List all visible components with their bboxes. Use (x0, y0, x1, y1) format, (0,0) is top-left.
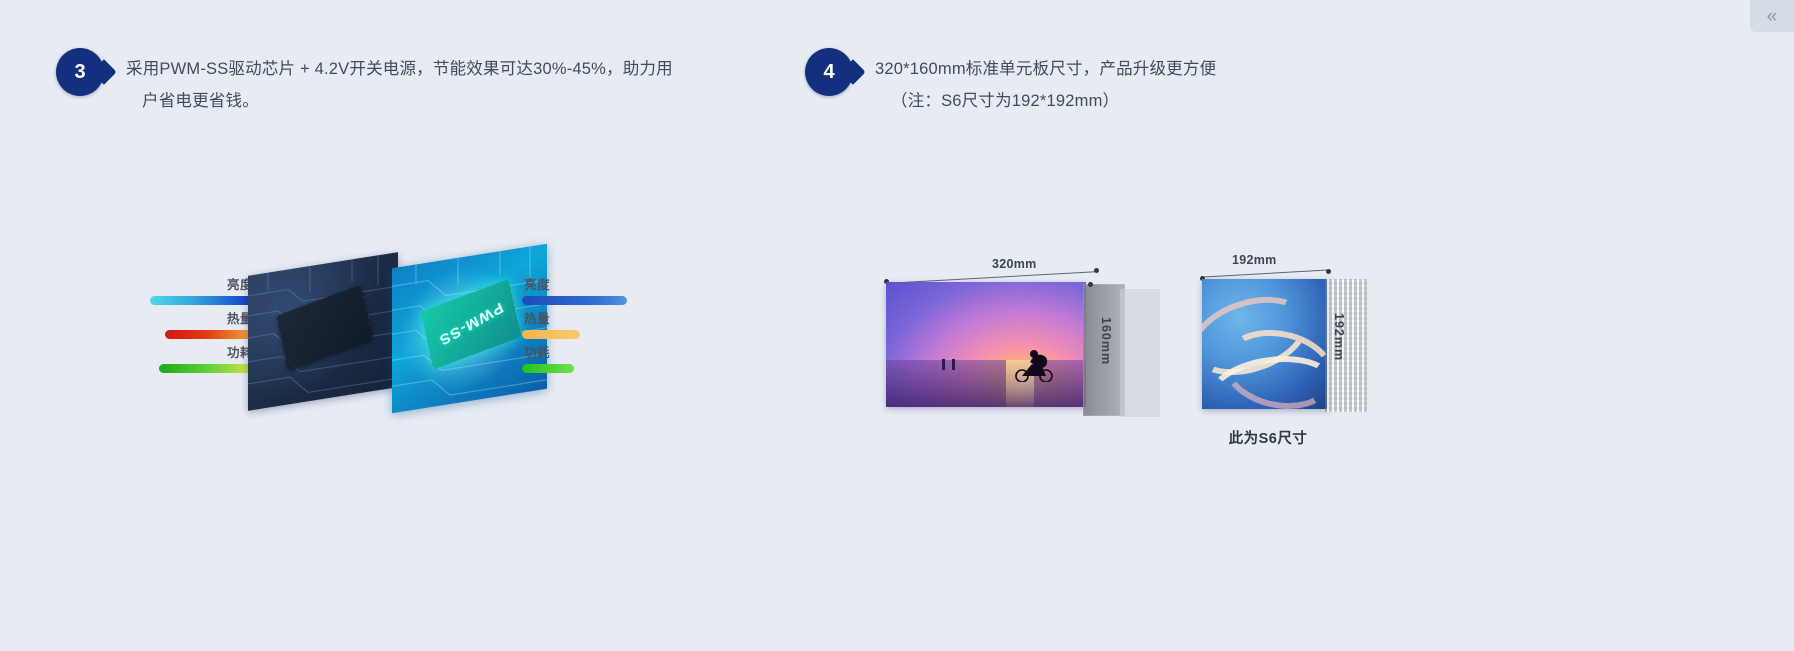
bar-brightness (150, 296, 255, 305)
bar-power (522, 364, 574, 373)
feature-line-2: （注：S6尺寸为192*192mm） (875, 85, 1216, 117)
standard-chip-photo (248, 252, 398, 411)
page-root: « 3 采用PWM-SS驱动芯片 + 4.2V开关电源，节能效果可达30%-45… (0, 0, 1794, 651)
figure-silhouette (952, 359, 955, 370)
s6-panel-screen (1202, 279, 1330, 409)
feature-item-4: 4 320*160mm标准单元板尺寸，产品升级更方便 （注：S6尺寸为192*1… (805, 48, 1445, 117)
dimension-line-width-s6 (1202, 269, 1330, 277)
bar-label-power: 功耗 (130, 346, 255, 361)
feature-number-4: 4 (823, 61, 834, 84)
figure-silhouette (942, 359, 945, 370)
right-chip-bars: 亮度 热量 功耗 (522, 278, 647, 380)
feature-badge-4: 4 (805, 48, 853, 96)
bar-row-power: 功耗 (130, 346, 255, 373)
bar-heat (165, 330, 255, 339)
feature-badge-3: 3 (56, 48, 104, 96)
chip-comparison-illustration: 亮度 热量 功耗 (130, 250, 650, 415)
feature-item-3: 3 采用PWM-SS驱动芯片 + 4.2V开关电源，节能效果可达30%-45%，… (56, 48, 756, 117)
bar-label-power: 功耗 (522, 346, 647, 361)
bar-label-brightness: 亮度 (522, 278, 647, 293)
badge-pointer-icon (102, 63, 115, 81)
cyclist-silhouette-icon (1012, 348, 1058, 382)
bar-label-heat: 热量 (130, 312, 255, 327)
dimension-label-height-s6: 192mm (1332, 313, 1346, 361)
bar-row-brightness: 亮度 (522, 278, 647, 305)
dimension-label-width-standard: 320mm (992, 257, 1037, 271)
bar-row-brightness: 亮度 (130, 278, 255, 305)
dimension-label-height-standard: 160mm (1099, 317, 1113, 365)
feature-text-4: 320*160mm标准单元板尺寸，产品升级更方便 （注：S6尺寸为192*192… (875, 48, 1216, 117)
dimension-label-width-s6: 192mm (1232, 253, 1277, 267)
bar-label-brightness: 亮度 (130, 278, 255, 293)
left-chip-bars: 亮度 热量 功耗 (130, 278, 255, 380)
feature-line-2: 户省电更省钱。 (126, 85, 673, 117)
standard-panel-screen (886, 282, 1086, 407)
dimension-endpoint (1326, 269, 1331, 274)
bar-power (159, 364, 255, 373)
panel-size-illustration: 320mm 160mm 192mm (880, 255, 1400, 465)
bar-heat (522, 330, 580, 339)
feature-number-3: 3 (74, 61, 85, 84)
dimension-endpoint (1088, 282, 1093, 287)
bar-label-heat: 热量 (522, 312, 647, 327)
bar-row-heat: 热量 (522, 312, 647, 339)
bar-brightness (522, 296, 627, 305)
double-chevron-left-icon: « (1767, 7, 1778, 26)
feature-line-1: 采用PWM-SS驱动芯片 + 4.2V开关电源，节能效果可达30%-45%，助力… (126, 60, 673, 78)
dimension-endpoint (1094, 268, 1099, 273)
feature-text-3: 采用PWM-SS驱动芯片 + 4.2V开关电源，节能效果可达30%-45%，助力… (126, 48, 673, 117)
badge-pointer-icon (851, 63, 864, 81)
bar-row-power: 功耗 (522, 346, 647, 373)
bar-row-heat: 热量 (130, 312, 255, 339)
standard-panel-shadow (1120, 289, 1160, 417)
collapse-panel-button[interactable]: « (1750, 0, 1794, 32)
s6-caption: 此为S6尺寸 (1198, 427, 1338, 448)
feature-line-1: 320*160mm标准单元板尺寸，产品升级更方便 (875, 60, 1216, 78)
